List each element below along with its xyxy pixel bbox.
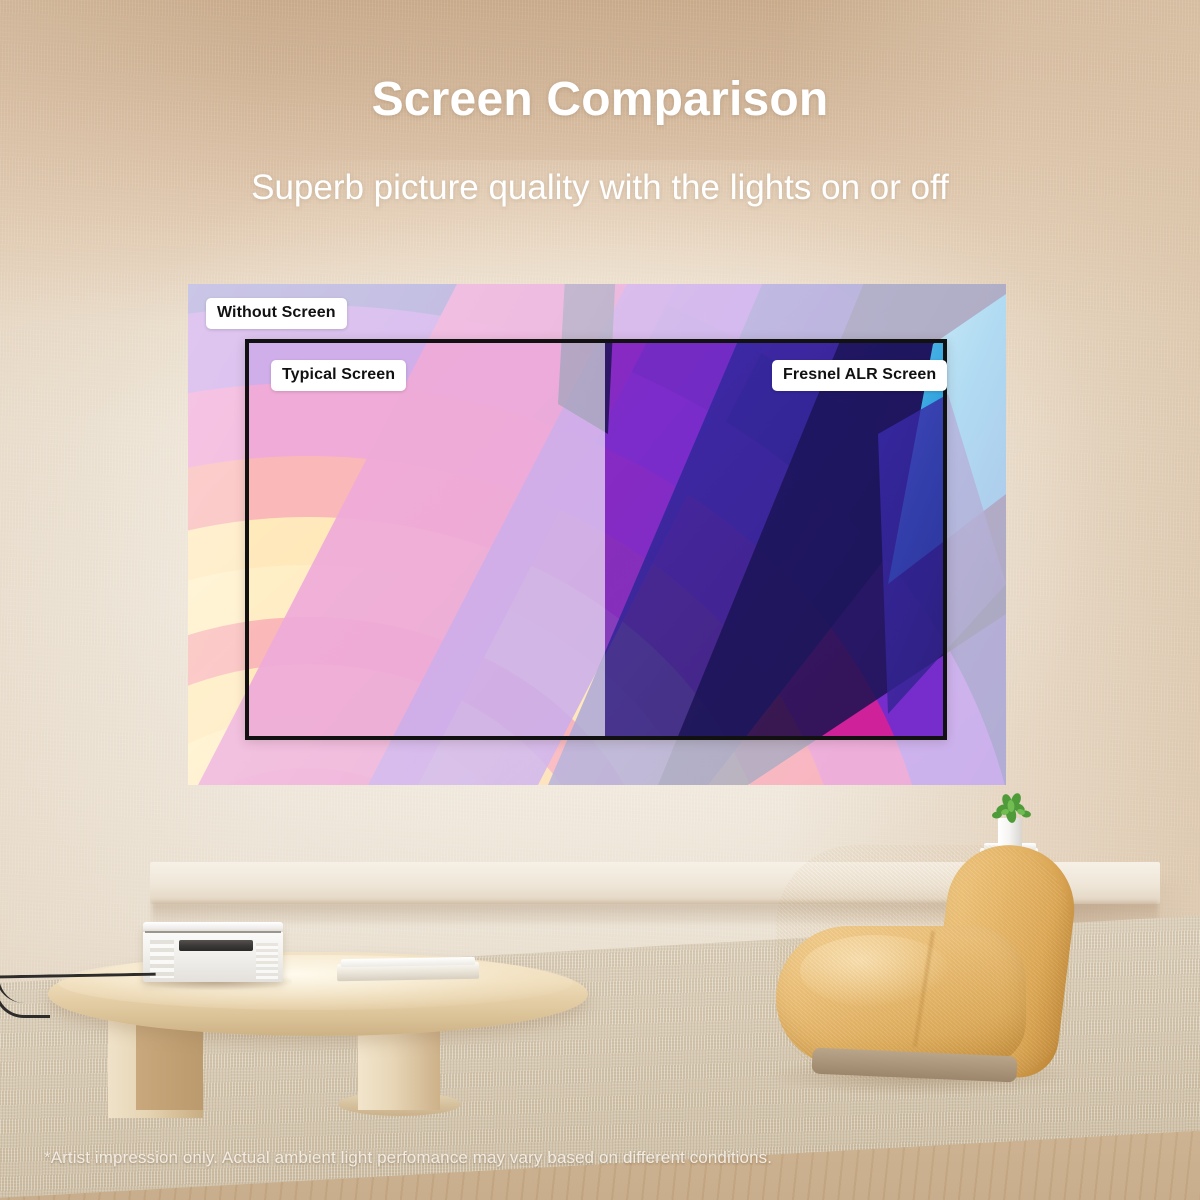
disclaimer-footnote: *Artist impression only. Actual ambient … [44, 1148, 772, 1168]
fresnel-alr-screen-area [605, 343, 947, 736]
screen-frame [245, 339, 947, 740]
fresnel-artwork-holder [605, 343, 947, 736]
projector-top-seam [145, 931, 281, 933]
plant-icon [985, 788, 1037, 824]
page-subtitle: Superb picture quality with the lights o… [0, 168, 1200, 208]
projector-lens [179, 940, 253, 951]
power-cable-loop [0, 980, 50, 1018]
room-scene: Screen Comparison Superb picture quality… [0, 0, 1200, 1200]
label-without-screen: Without Screen [206, 298, 347, 329]
label-fresnel-alr-screen: Fresnel ALR Screen [772, 360, 947, 391]
page-title: Screen Comparison [0, 72, 1200, 127]
label-typical-screen: Typical Screen [271, 360, 406, 391]
projector-vent-right [256, 943, 278, 979]
artwork-svg-vivid [605, 343, 947, 736]
